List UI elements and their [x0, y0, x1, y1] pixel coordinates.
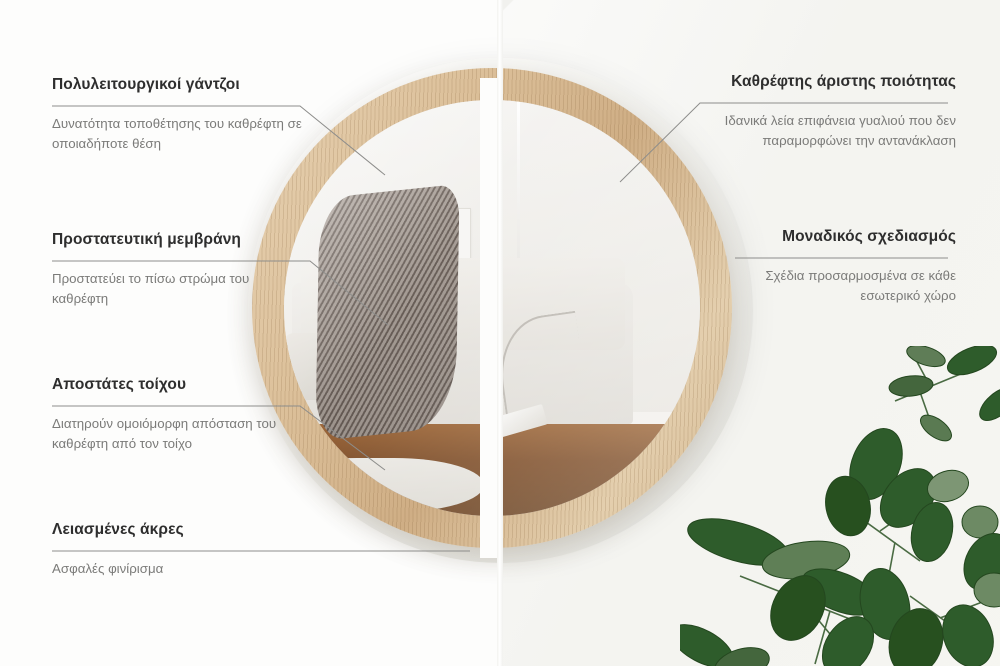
callout-quality-description: Ιδανικά λεία επιφάνεια γυαλιού που δεν π… [686, 111, 956, 151]
callout-edges: Λειασμένες άκρες Ασφαλές φινίρισμα [52, 521, 302, 579]
callout-spacers-title: Αποστάτες τοίχου [52, 376, 302, 394]
callout-membrane-description: Προστατεύει το πίσω στρώμα του καθρέφτη [52, 269, 302, 309]
callout-hooks-description: Δυνατότητα τοποθέτησης του καθρέφτη σε ο… [52, 114, 302, 154]
green-leaves [680, 346, 1000, 666]
callout-membrane: Προστατευτική μεμβράνη Προστατεύει το πί… [52, 231, 302, 309]
callout-quality-title: Καθρέφτης άριστης ποιότητας [686, 73, 956, 91]
callout-design: Μοναδικός σχεδιασμός Σχέδια προσαρμοσμέν… [726, 228, 956, 306]
panel-divider [497, 0, 503, 666]
callout-spacers: Αποστάτες τοίχου Διατηρούν ομοιόμορφη απ… [52, 376, 302, 454]
callout-hooks: Πολυλειτουργικοί γάντζοι Δυνατότητα τοπο… [52, 76, 302, 154]
callout-design-description: Σχέδια προσαρμοσμένα σε κάθε εσωτερικό χ… [726, 266, 956, 306]
callout-hooks-title: Πολυλειτουργικοί γάντζοι [52, 76, 302, 94]
callout-membrane-title: Προστατευτική μεμβράνη [52, 231, 302, 249]
callout-edges-description: Ασφαλές φινίρισμα [52, 559, 302, 579]
callout-edges-title: Λειασμένες άκρες [52, 521, 302, 539]
callout-design-title: Μοναδικός σχεδιασμός [726, 228, 956, 246]
callout-quality: Καθρέφτης άριστης ποιότητας Ιδανικά λεία… [686, 73, 956, 151]
infographic-canvas: Πολυλειτουργικοί γάντζοι Δυνατότητα τοπο… [0, 0, 1000, 666]
callout-spacers-description: Διατηρούν ομοιόμορφη απόσταση του καθρέφ… [52, 414, 302, 454]
